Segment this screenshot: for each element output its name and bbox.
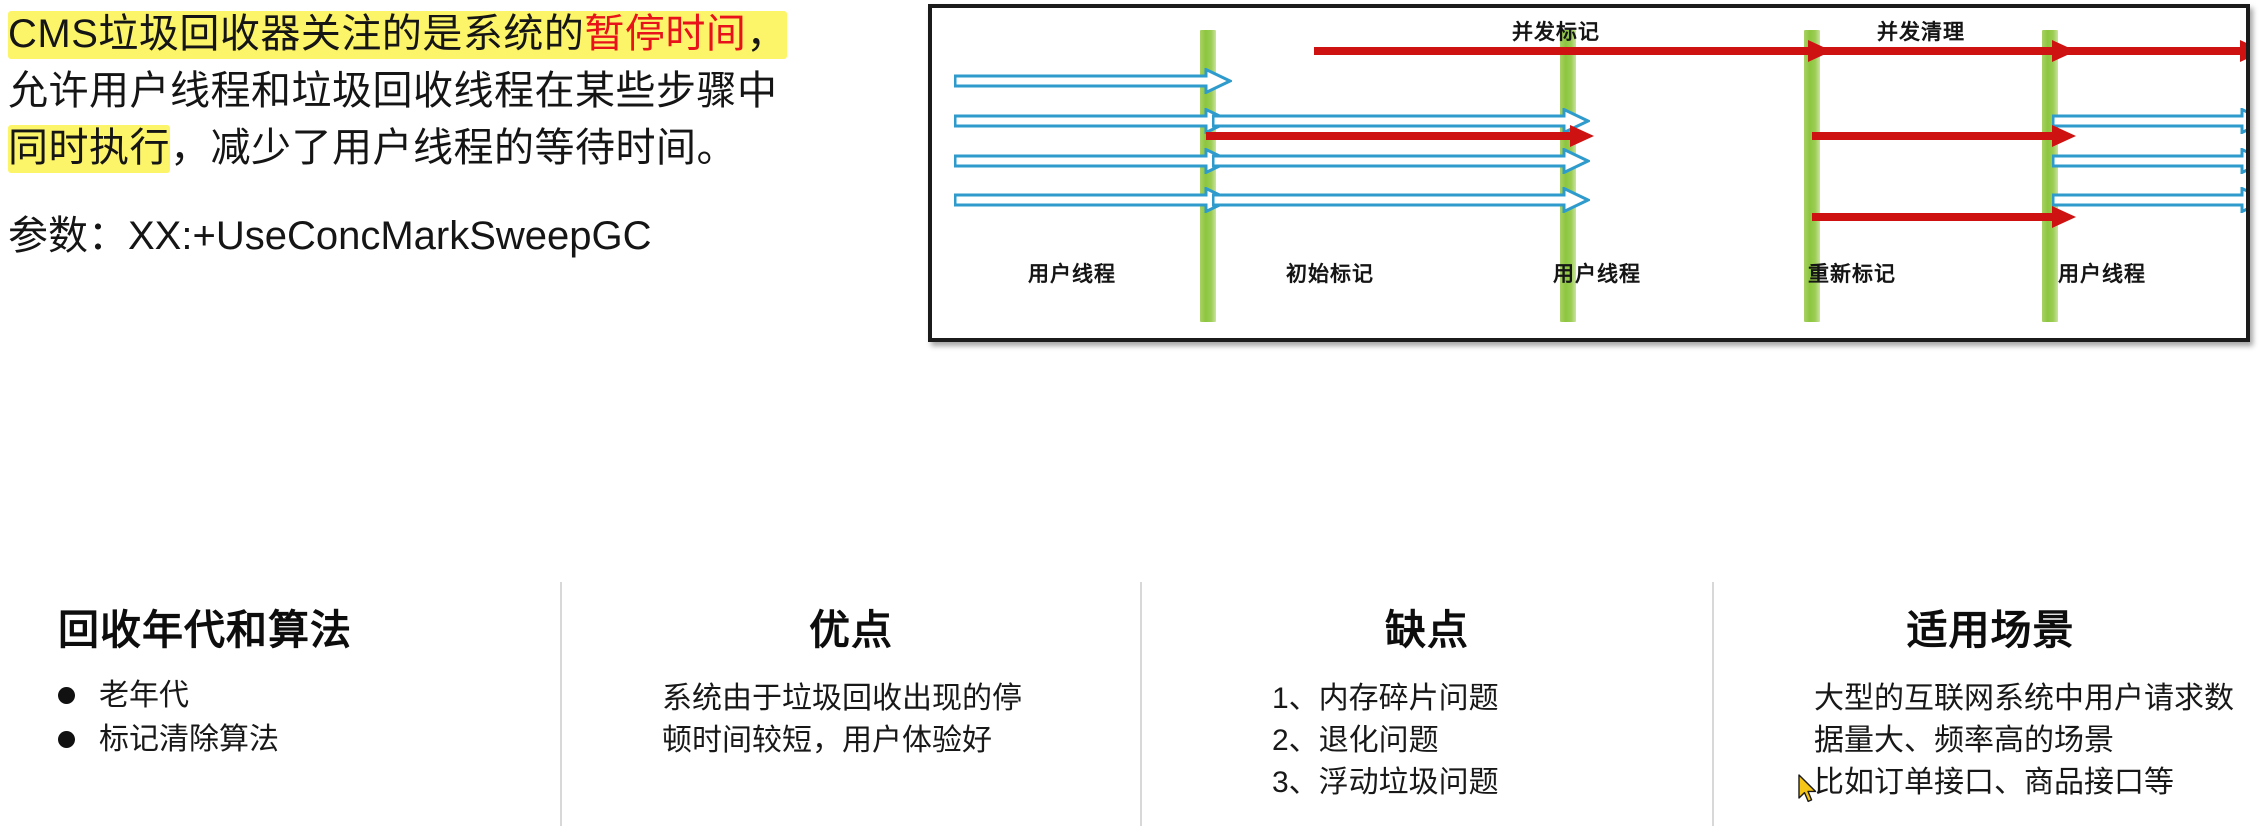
cms-phases-diagram: 并发标记并发清理用户线程初始标记用户线程重新标记用户线程 bbox=[928, 4, 2250, 342]
list-item-label: 标记清除算法 bbox=[99, 718, 279, 762]
summary-column-2: 优点系统由于垃圾回收出现的停顿时间较短，用户体验好 bbox=[562, 582, 1140, 826]
intro-line-3-highlight: 同时执行 bbox=[8, 125, 170, 173]
summary-column-4: 适用场景大型的互联网系统中用户请求数据量大、频率高的场景比如订单接口、商品接口等 bbox=[1714, 582, 2267, 826]
user-thread-arrow bbox=[1212, 187, 1590, 213]
jvm-parameter-line: 参数：XX:+UseConcMarkSweepGC bbox=[8, 209, 652, 263]
column-title-2: 优点 bbox=[562, 596, 1140, 656]
column-body-3: 1、内存碎片问题2、退化问题3、浮动垃圾问题 bbox=[1142, 678, 1712, 804]
user-thread-arrow bbox=[954, 148, 1232, 174]
column-body-4: 大型的互联网系统中用户请求数据量大、频率高的场景比如订单接口、商品接口等 bbox=[1714, 678, 2267, 804]
numbered-item: 3、浮动垃圾问题 bbox=[1272, 762, 1712, 804]
user-thread-arrow bbox=[954, 68, 1232, 94]
gc-thread-arrow bbox=[1812, 204, 2076, 230]
phase-top-label-1: 并发标记 bbox=[1512, 16, 1600, 46]
column-title-3: 缺点 bbox=[1142, 596, 1712, 656]
paragraph-line: 比如订单接口、商品接口等 bbox=[1814, 762, 2267, 804]
intro-line-1-prefix: CMS垃圾回收器关注的是系统的 bbox=[8, 12, 584, 56]
list-item-label: 老年代 bbox=[99, 674, 189, 718]
paragraph-line: 据量大、频率高的场景 bbox=[1814, 720, 2267, 762]
bullet-dot-icon bbox=[58, 731, 75, 748]
phase-bottom-label-3: 用户线程 bbox=[1477, 258, 1717, 288]
user-thread-arrow bbox=[2052, 108, 2250, 134]
intro-text-block: CMS垃圾回收器关注的是系统的暂停时间， 允许用户线程和垃圾回收线程在某些步骤中… bbox=[8, 6, 888, 177]
column-title-1: 回收年代和算法 bbox=[58, 596, 560, 656]
intro-line-1: CMS垃圾回收器关注的是系统的暂停时间， bbox=[8, 6, 888, 63]
intro-line-1-highlight: CMS垃圾回收器关注的是系统的暂停时间， bbox=[8, 11, 787, 59]
column-title-4: 适用场景 bbox=[1714, 596, 2267, 656]
mouse-pointer-icon bbox=[1798, 774, 1820, 804]
phase-bottom-label-2: 初始标记 bbox=[1210, 258, 1450, 288]
bullet-dot-icon bbox=[58, 687, 75, 704]
phase-top-label-2: 并发清理 bbox=[1877, 16, 1965, 46]
gc-thread-arrow bbox=[1206, 123, 1594, 149]
paragraph-line: 系统由于垃圾回收出现的停 bbox=[662, 678, 1140, 720]
user-thread-arrow bbox=[2052, 148, 2250, 174]
list-item: 标记清除算法 bbox=[58, 718, 560, 762]
user-thread-arrow bbox=[954, 108, 1232, 134]
numbered-item: 1、内存碎片问题 bbox=[1272, 678, 1712, 720]
column-body-1: 老年代标记清除算法 bbox=[0, 674, 560, 762]
intro-line-1-red-emphasis: 暂停时间 bbox=[584, 12, 746, 56]
paragraph-line: 大型的互联网系统中用户请求数 bbox=[1814, 678, 2267, 720]
user-thread-arrow bbox=[2052, 187, 2250, 213]
numbered-item: 2、退化问题 bbox=[1272, 720, 1712, 762]
intro-line-1-suffix: ， bbox=[746, 12, 787, 56]
gc-thread-arrow bbox=[2050, 38, 2250, 64]
paragraph-line: 顿时间较短，用户体验好 bbox=[662, 720, 1140, 762]
list-item: 老年代 bbox=[58, 674, 560, 718]
intro-line-3: 同时执行，减少了用户线程的等待时间。 bbox=[8, 120, 888, 177]
summary-column-1: 回收年代和算法老年代标记清除算法 bbox=[0, 582, 560, 826]
user-thread-arrow bbox=[954, 187, 1232, 213]
phase-bottom-label-1: 用户线程 bbox=[952, 258, 1192, 288]
phase-bottom-label-4: 重新标记 bbox=[1732, 258, 1972, 288]
user-thread-arrow bbox=[1212, 148, 1590, 174]
intro-line-3-suffix: ，减少了用户线程的等待时间。 bbox=[170, 126, 737, 170]
column-body-2: 系统由于垃圾回收出现的停顿时间较短，用户体验好 bbox=[562, 678, 1140, 762]
summary-column-3: 缺点1、内存碎片问题2、退化问题3、浮动垃圾问题 bbox=[1142, 582, 1712, 826]
intro-line-2: 允许用户线程和垃圾回收线程在某些步骤中 bbox=[8, 63, 888, 120]
phase-bottom-label-5: 用户线程 bbox=[1982, 258, 2222, 288]
summary-columns: 回收年代和算法老年代标记清除算法优点系统由于垃圾回收出现的停顿时间较短，用户体验… bbox=[0, 582, 2267, 826]
gc-thread-arrow bbox=[1812, 123, 2076, 149]
